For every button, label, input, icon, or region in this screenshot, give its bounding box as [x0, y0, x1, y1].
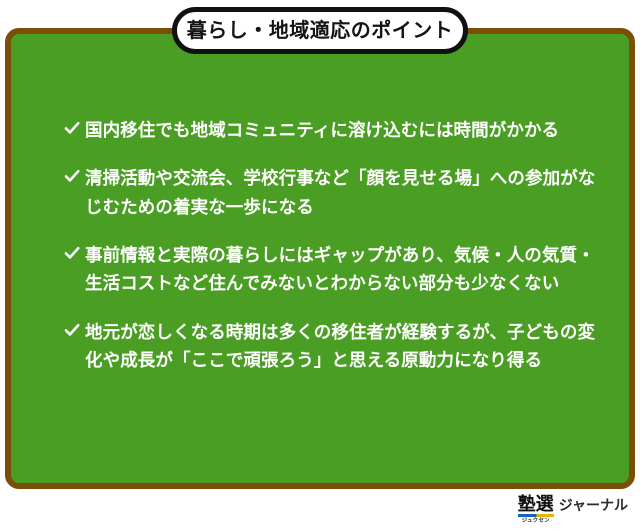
logo-wordmark: ジャーナル [559, 498, 628, 521]
list-item-label: 地元が恋しくなる時期は多くの移住者が経験するが、子どもの変化や成長が「ここで頑張… [85, 322, 595, 370]
check-icon [63, 119, 81, 137]
list-item: 国内移住でも地域コミュニティに溶け込むには時間がかかる [63, 116, 601, 144]
list-item-label: 国内移住でも地域コミュニティに溶け込むには時間がかかる [85, 120, 559, 140]
page-title: 暮らし・地域適応のポイント [187, 21, 454, 41]
list-item-label: 事前情報と実際の暮らしにはギャップがあり、気候・人の気質・生活コストなど住んでみ… [85, 245, 595, 293]
title-banner: 暮らし・地域適応のポイント [172, 7, 468, 54]
list-item: 清掃活動や交流会、学校行事など「顔を見せる場」への参加がなじむための着実な一歩に… [63, 164, 601, 221]
logo-underline [518, 514, 554, 517]
check-icon [63, 244, 81, 262]
list-item: 地元が恋しくなる時期は多くの移住者が経験するが、子どもの変化や成長が「ここで頑張… [63, 318, 601, 375]
check-icon [63, 167, 81, 185]
brand-logo: 塾選 ジュクセン ジャーナル [518, 496, 628, 521]
logo-ruby: ジュクセン [518, 519, 554, 525]
list-item: 事前情報と実際の暮らしにはギャップがあり、気候・人の気質・生活コストなど住んでみ… [63, 241, 601, 298]
bullet-list: 国内移住でも地域コミュニティに溶け込むには時間がかかる 清掃活動や交流会、学校行… [63, 116, 601, 374]
slide-canvas: 国内移住でも地域コミュニティに溶け込むには時間がかかる 清掃活動や交流会、学校行… [0, 0, 640, 529]
check-icon [63, 321, 81, 339]
list-item-label: 清掃活動や交流会、学校行事など「顔を見せる場」への参加がなじむための着実な一歩に… [85, 168, 595, 216]
logo-mark: 塾選 ジュクセン [518, 496, 554, 521]
content-card: 国内移住でも地域コミュニティに溶け込むには時間がかかる 清掃活動や交流会、学校行… [5, 28, 635, 489]
logo-kanji: 塾選 [518, 496, 554, 514]
